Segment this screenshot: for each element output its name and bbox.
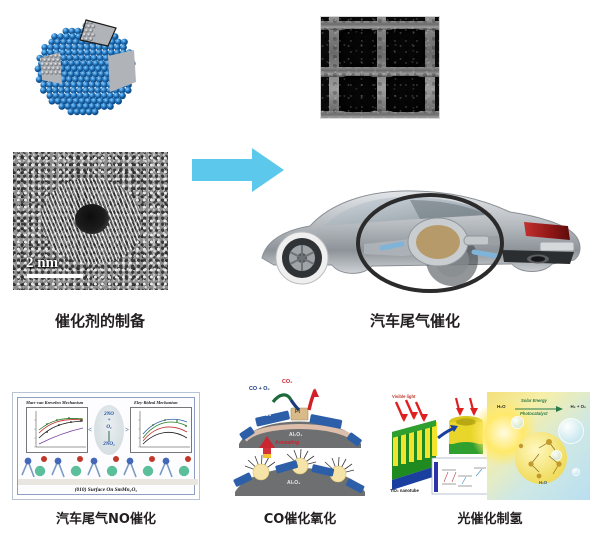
reaction-ellipse: 2NO + O₂ 2NO₂: [94, 405, 124, 455]
caption-co-oxidation: CO催化氧化: [240, 508, 360, 527]
photocatalysis-schematic: Visible light TiO₂ nanotube: [390, 392, 590, 500]
products-label: H₂ + O₂: [571, 404, 587, 409]
right-mechanism-plot: [130, 407, 192, 453]
driver-bottom-label: Photocatalyst: [520, 411, 547, 416]
nanoparticle-svg: [24, 8, 152, 128]
sem-monolith-image: [320, 16, 440, 119]
co-annealing-label: Annealing: [275, 440, 299, 446]
caption-vehicle-exhaust-catalysis: 汽车尾气催化: [350, 310, 480, 331]
co-support-label-bottom: Al₂O₃: [287, 480, 300, 486]
right-chevron: >: [125, 426, 129, 434]
nanotube-array-label: TiO₂ nanotube: [390, 488, 419, 493]
solar-water-splitting-illustration: H₂O Solar Energy Photocatalyst H₂ + O₂ H…: [487, 392, 590, 500]
left-chevron: <: [88, 426, 92, 434]
co-oxide-label: Co₃O₄: [256, 412, 271, 418]
car-exhaust-illustration: [252, 170, 592, 300]
co-support-label-top: Al₂O₃: [289, 432, 302, 438]
reaction-bottom: 2NO₂: [103, 442, 114, 448]
sem-channel-grid: [321, 17, 439, 118]
caption-no-catalysis: 汽车尾气NO催化: [36, 508, 176, 527]
co-metal-label: Pt: [295, 409, 300, 415]
visible-light-label: Visible light: [392, 394, 415, 399]
left-mechanism-title: Mars-van Krevelen Mechanism: [26, 400, 83, 405]
co-product-label: CO₂: [282, 379, 292, 385]
driver-top-label: Solar Energy: [521, 398, 547, 403]
co-oxidation-schematic: CO + O₂ CO₂ Co₃O₄ Pt Al₂O₃ Al₂O₃ Anneali…: [225, 388, 375, 500]
surface-label: (010) Surface On SmMn₂O₅: [18, 487, 194, 493]
hrtem-image: 2 nm: [13, 152, 168, 290]
scale-bar-label: 2 nm: [26, 255, 58, 272]
byproduct-label: H₂O: [539, 480, 547, 485]
tem-nanoparticle-core: [75, 204, 109, 234]
caption-photocatalytic-hydrogen: 光催化制氢: [430, 508, 550, 527]
polyhedral-nanoparticle-model: [24, 8, 152, 128]
left-mechanism-plot: [26, 407, 88, 453]
catalysis-poster: 2 nm: [0, 0, 600, 543]
co-reactants-label: CO + O₂: [249, 386, 270, 392]
right-mechanism-title: Eley-Rideal Mechanism: [134, 400, 178, 405]
caption-catalyst-preparation: 催化剂的制备: [30, 310, 170, 331]
sem-texture: [321, 17, 439, 118]
scale-bar: [27, 274, 83, 278]
no-mechanism-figure: Mars-van Krevelen Mechanism: [12, 392, 200, 500]
reactant-label: H₂O: [497, 404, 506, 409]
surface-atomistic-model: [18, 455, 198, 485]
